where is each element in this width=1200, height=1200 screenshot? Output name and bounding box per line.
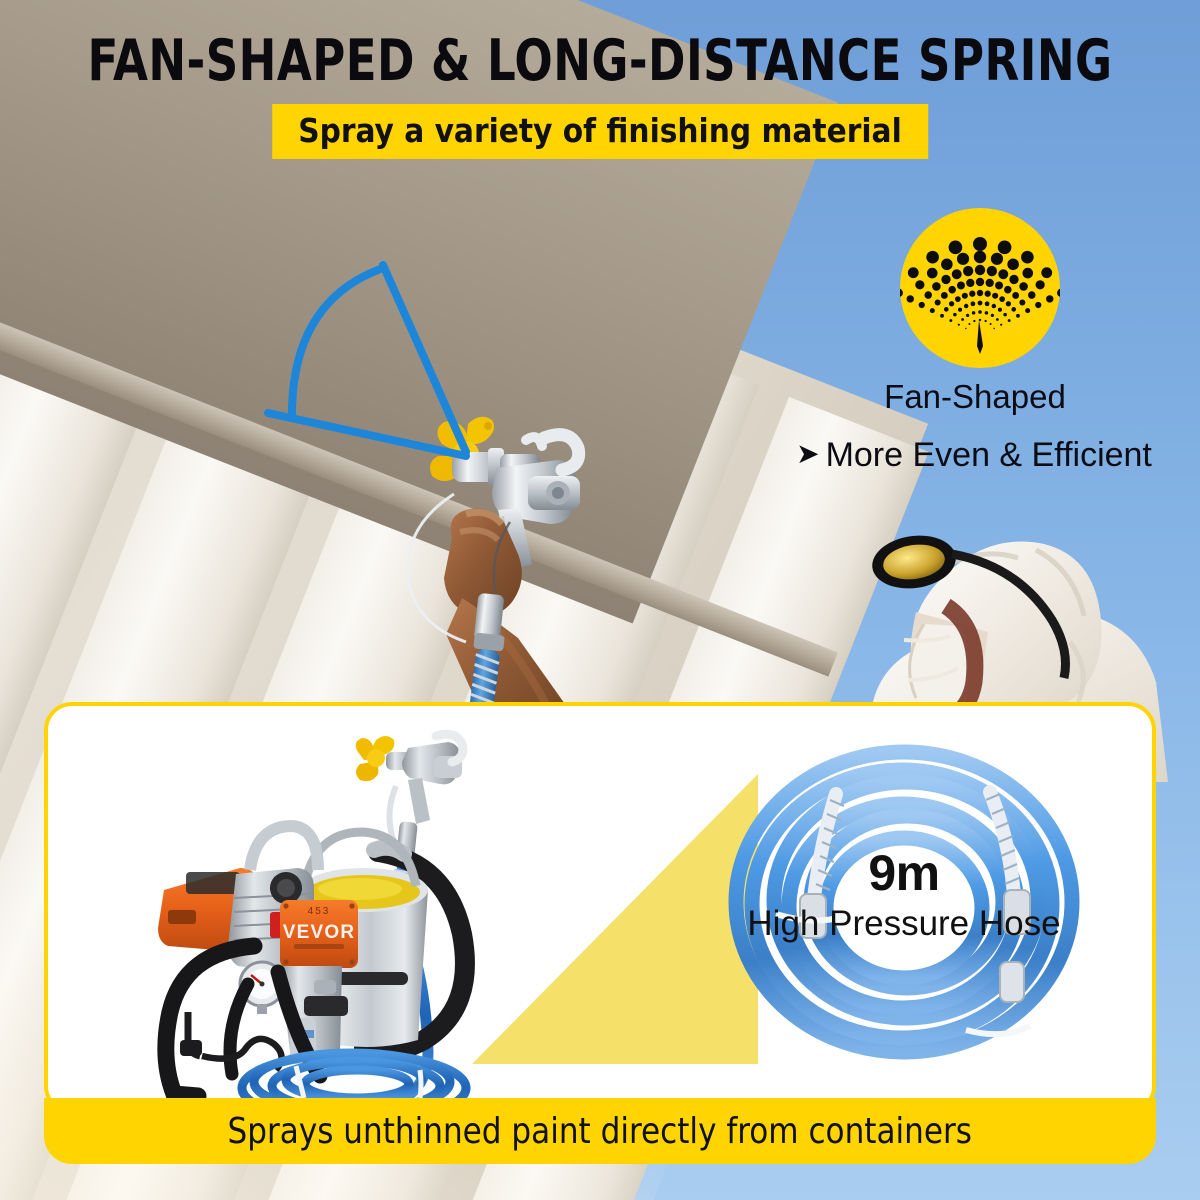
hose-callout-text: 9m High Pressure Hose — [704, 848, 1104, 946]
bottom-caption-text: Sprays unthinned paint directly from con… — [228, 1111, 972, 1152]
hose-length-value: 9m — [704, 848, 1104, 898]
hose-callout-label: High Pressure Hose — [704, 902, 1104, 946]
arrow-right-icon: ➤ — [796, 438, 819, 469]
model-code-text: 453 — [308, 906, 331, 917]
fan-benefit-text: More Even & Efficient — [826, 436, 1152, 474]
spray-gun-in-hand — [392, 398, 692, 728]
subtitle-banner: Spray a variety of finishing material — [272, 104, 928, 159]
airless-paint-sprayer-image: VEVOR 453 — [128, 722, 500, 1114]
fan-benefit-label: ➤More Even & Efficient — [748, 436, 1200, 475]
bottom-caption-bar: Sprays unthinned paint directly from con… — [44, 1098, 1156, 1164]
vevor-brand-text: VEVOR — [283, 922, 356, 943]
fan-spray-badge — [900, 208, 1060, 368]
product-marketing-image: FAN-SHAPED & LONG-DISTANCE SPRING Spray … — [0, 0, 1200, 1200]
page-title: FAN-SHAPED & LONG-DISTANCE SPRING — [72, 32, 1128, 91]
fan-shaped-label: Fan-Shaped — [760, 378, 1190, 416]
